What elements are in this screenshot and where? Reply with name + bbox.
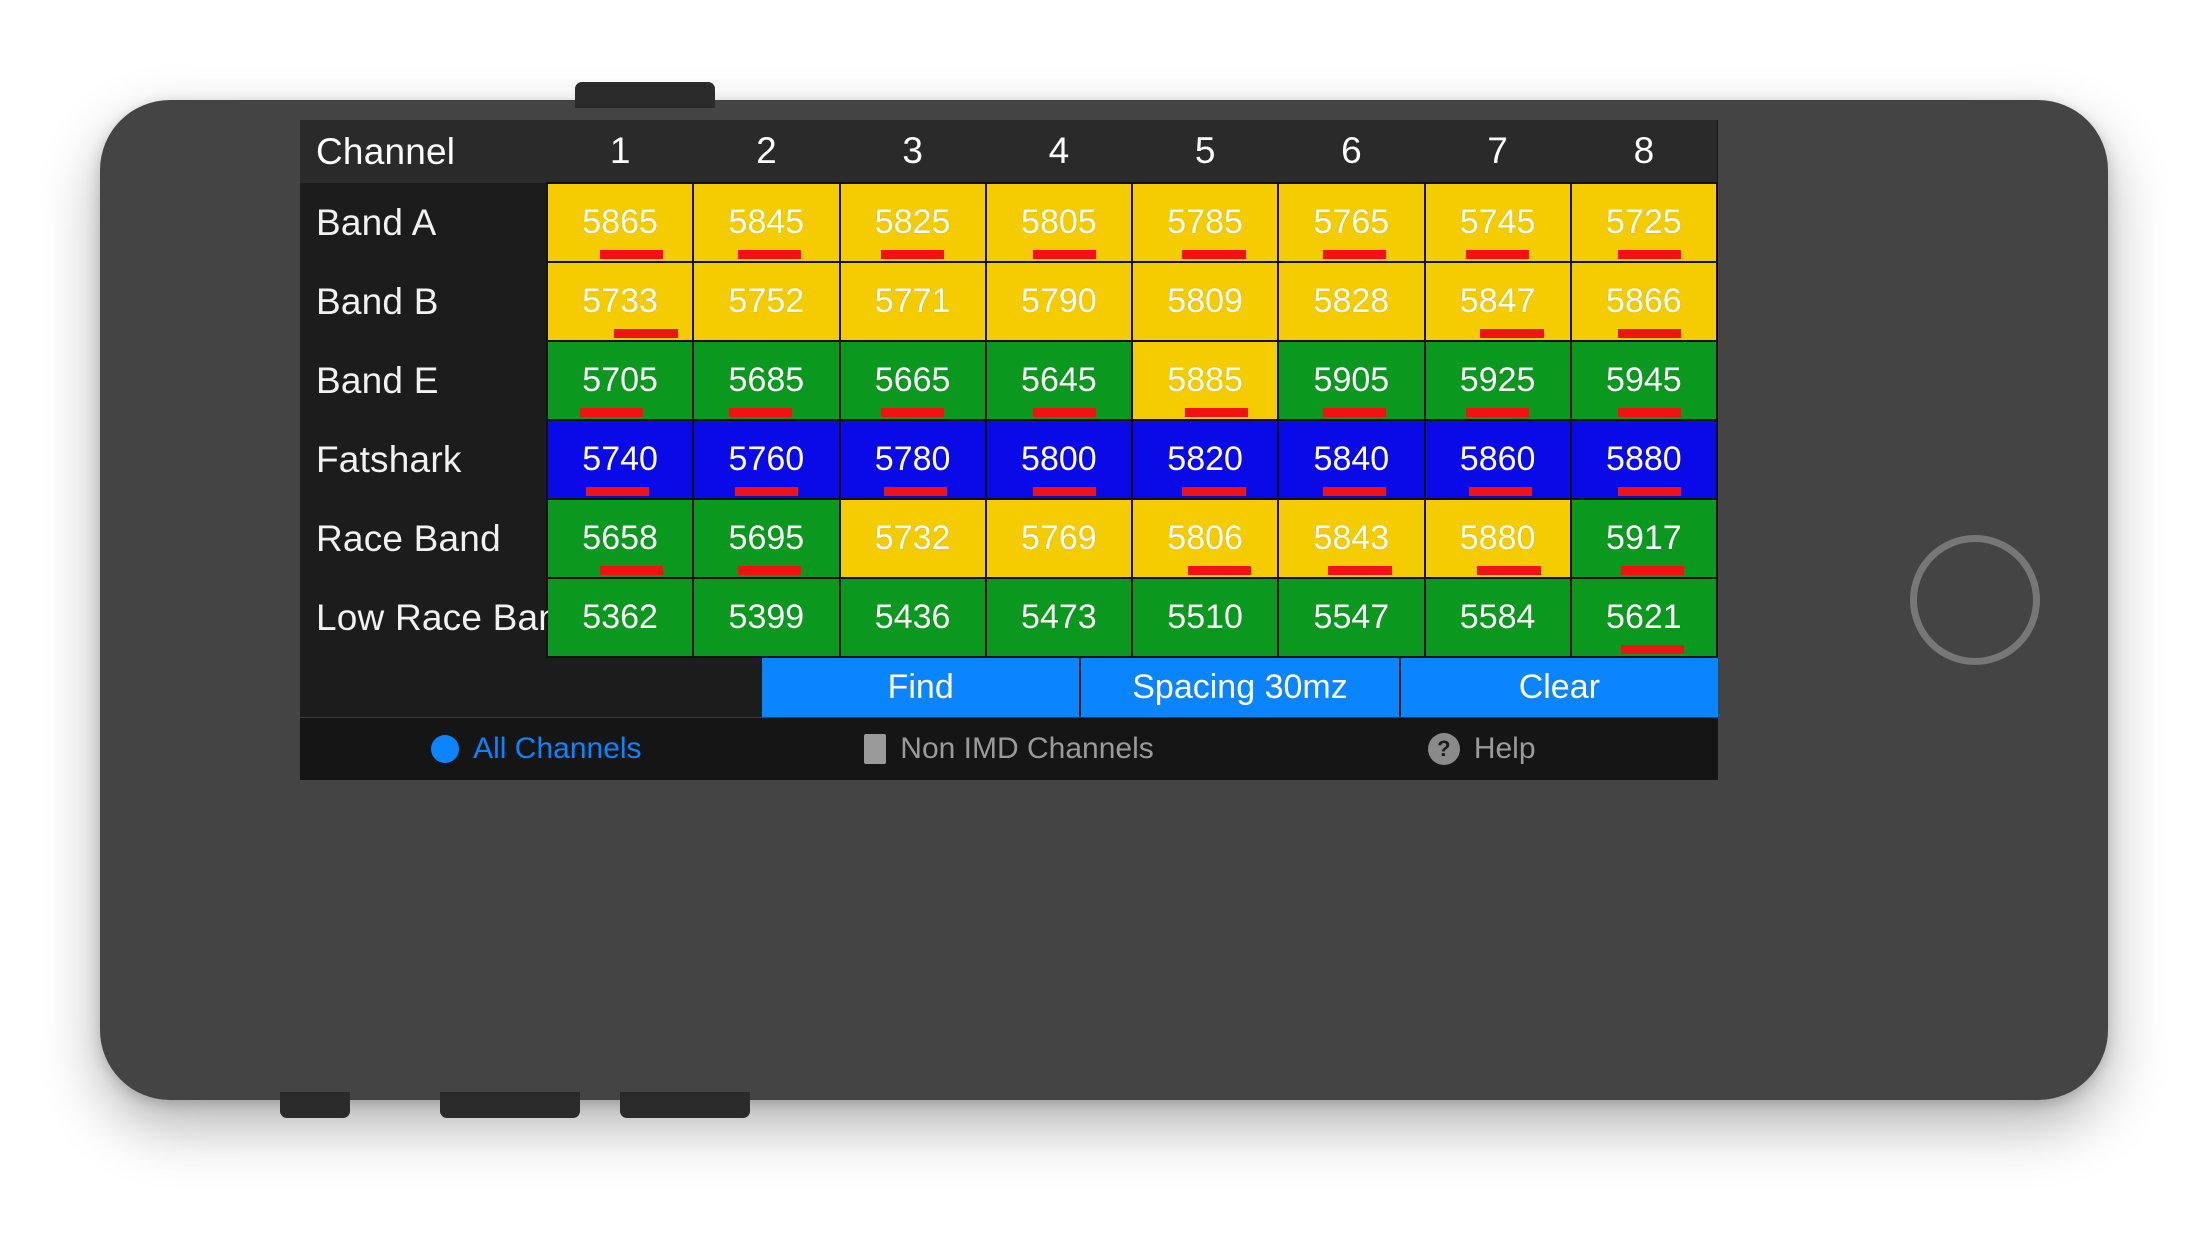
action-button-bar: Find Spacing 30mz Clear	[300, 658, 1718, 717]
imd-indicator-bar	[738, 566, 801, 575]
channel-header-5: 5	[1132, 120, 1278, 183]
frequency-cell[interactable]: 5925	[1425, 341, 1571, 420]
frequency-cell[interactable]: 5917	[1571, 499, 1717, 578]
frequency-value: 5547	[1279, 579, 1423, 656]
tab-all-channels[interactable]: All Channels	[300, 732, 773, 766]
frequency-cell[interactable]: 5745	[1425, 183, 1571, 262]
frequency-cell[interactable]: 5945	[1571, 341, 1717, 420]
imd-indicator-bar	[600, 566, 663, 575]
frequency-cell[interactable]: 5399	[693, 578, 839, 657]
frequency-cell[interactable]: 5752	[693, 262, 839, 341]
band-row: Fatshark57405760578058005820584058605880	[300, 420, 1717, 499]
frequency-cell[interactable]: 5880	[1571, 420, 1717, 499]
imd-indicator-bar	[729, 408, 792, 417]
frequency-value: 5399	[694, 579, 838, 656]
bottom-tab-bar: All Channels Non IMD Channels ? Help	[300, 717, 1718, 780]
frequency-cell[interactable]: 5665	[840, 341, 986, 420]
imd-indicator-bar	[1469, 487, 1532, 496]
frequency-cell[interactable]: 5510	[1132, 578, 1278, 657]
frequency-cell[interactable]: 5828	[1278, 262, 1424, 341]
tab-help[interactable]: ? Help	[1245, 732, 1718, 766]
imd-indicator-bar	[1328, 566, 1391, 575]
frequency-cell[interactable]: 5760	[693, 420, 839, 499]
imd-indicator-bar	[1033, 487, 1096, 496]
imd-indicator-bar	[881, 408, 944, 417]
frequency-cell[interactable]: 5436	[840, 578, 986, 657]
imd-indicator-bar	[1466, 250, 1529, 259]
frequency-value: 5584	[1426, 579, 1570, 656]
frequency-cell[interactable]: 5765	[1278, 183, 1424, 262]
imd-indicator-bar	[614, 329, 677, 338]
frequency-cell[interactable]: 5695	[693, 499, 839, 578]
channel-header-2: 2	[693, 120, 839, 183]
channel-header-6: 6	[1278, 120, 1424, 183]
frequency-cell[interactable]: 5843	[1278, 499, 1424, 578]
frequency-cell[interactable]: 5866	[1571, 262, 1717, 341]
channel-header-8: 8	[1571, 120, 1717, 183]
frequency-value: 5771	[841, 263, 985, 340]
tab-non-imd-channels[interactable]: Non IMD Channels	[773, 732, 1246, 766]
imd-indicator-bar	[1480, 329, 1543, 338]
band-row: Band E57055685566556455885590559255945	[300, 341, 1717, 420]
frequency-cell[interactable]: 5800	[986, 420, 1132, 499]
spacing-button[interactable]: Spacing 30mz	[1081, 658, 1400, 717]
band-row: Band B57335752577157905809582858475866	[300, 262, 1717, 341]
frequency-value: 5790	[987, 263, 1131, 340]
frequency-value: 5473	[987, 579, 1131, 656]
frequency-cell[interactable]: 5645	[986, 341, 1132, 420]
imd-indicator-bar	[1618, 250, 1681, 259]
imd-indicator-bar	[1618, 329, 1681, 338]
square-icon	[864, 734, 886, 764]
band-label: Band B	[300, 262, 547, 341]
frequency-cell[interactable]: 5809	[1132, 262, 1278, 341]
imd-indicator-bar	[580, 408, 643, 417]
frequency-value: 5362	[548, 579, 692, 656]
imd-indicator-bar	[1477, 566, 1540, 575]
frequency-cell[interactable]: 5705	[547, 341, 693, 420]
imd-indicator-bar	[1621, 566, 1684, 575]
frequency-cell[interactable]: 5769	[986, 499, 1132, 578]
imd-indicator-bar	[1323, 408, 1386, 417]
mute-switch-button[interactable]	[620, 1092, 750, 1118]
frequency-cell[interactable]: 5780	[840, 420, 986, 499]
imd-indicator-bar	[1618, 408, 1681, 417]
action-bar-spacer	[300, 658, 762, 717]
frequency-cell[interactable]: 5362	[547, 578, 693, 657]
imd-indicator-bar	[1185, 408, 1248, 417]
frequency-value: 5732	[841, 500, 985, 577]
tab-help-label: Help	[1474, 732, 1536, 766]
tab-non-imd-label: Non IMD Channels	[900, 732, 1153, 766]
imd-indicator-bar	[1033, 408, 1096, 417]
home-button[interactable]	[1910, 535, 2040, 665]
frequency-value: 5809	[1133, 263, 1277, 340]
frequency-cell[interactable]: 5725	[1571, 183, 1717, 262]
channel-header-1: 1	[547, 120, 693, 183]
frequency-cell[interactable]: 5732	[840, 499, 986, 578]
frequency-cell[interactable]: 5740	[547, 420, 693, 499]
find-button[interactable]: Find	[762, 658, 1081, 717]
frequency-cell[interactable]: 5771	[840, 262, 986, 341]
frequency-cell[interactable]: 5880	[1425, 499, 1571, 578]
band-row: Band A58655845582558055785576557455725	[300, 183, 1717, 262]
imd-indicator-bar	[1182, 250, 1245, 259]
band-label: Band E	[300, 341, 547, 420]
channel-header-3: 3	[840, 120, 986, 183]
frequency-value: 5752	[694, 263, 838, 340]
imd-indicator-bar	[738, 250, 801, 259]
frequency-cell[interactable]: 5685	[693, 341, 839, 420]
frequency-cell[interactable]: 5865	[547, 183, 693, 262]
band-label: Fatshark	[300, 420, 547, 499]
frequency-cell[interactable]: 5584	[1425, 578, 1571, 657]
imd-indicator-bar	[881, 250, 944, 259]
frequency-value: 5510	[1133, 579, 1277, 656]
clear-button[interactable]: Clear	[1401, 658, 1718, 717]
frequency-value: 5436	[841, 579, 985, 656]
frequency-cell[interactable]: 5621	[1571, 578, 1717, 657]
frequency-cell[interactable]: 5785	[1132, 183, 1278, 262]
frequency-cell[interactable]: 5840	[1278, 420, 1424, 499]
frequency-value: 5828	[1279, 263, 1423, 340]
tab-all-channels-label: All Channels	[473, 732, 641, 766]
device-frame: Channel12345678Band A5865584558255805578…	[100, 100, 2108, 1100]
band-label: Low Race Band	[300, 578, 547, 657]
power-button[interactable]	[575, 82, 715, 108]
filled-circle-icon	[431, 735, 459, 763]
band-label: Band A	[300, 183, 547, 262]
volume-down-button[interactable]	[280, 1092, 350, 1118]
imd-indicator-bar	[735, 487, 798, 496]
imd-indicator-bar	[586, 487, 649, 496]
frequency-cell[interactable]: 5847	[1425, 262, 1571, 341]
table-header-row: Channel12345678	[300, 120, 1717, 183]
channel-frequency-table: Channel12345678Band A5865584558255805578…	[300, 120, 1718, 658]
frequency-cell[interactable]: 5845	[693, 183, 839, 262]
band-row: Low Race Band536253995436547355105547558…	[300, 578, 1717, 657]
imd-indicator-bar	[1033, 250, 1096, 259]
imd-indicator-bar	[1466, 408, 1529, 417]
channel-header-7: 7	[1425, 120, 1571, 183]
frequency-cell[interactable]: 5806	[1132, 499, 1278, 578]
frequency-cell[interactable]: 5658	[547, 499, 693, 578]
band-label: Race Band	[300, 499, 547, 578]
channel-corner-label: Channel	[300, 120, 547, 183]
channel-header-4: 4	[986, 120, 1132, 183]
imd-indicator-bar	[1618, 487, 1681, 496]
imd-indicator-bar	[600, 250, 663, 259]
frequency-value: 5769	[987, 500, 1131, 577]
frequency-cell[interactable]: 5860	[1425, 420, 1571, 499]
frequency-cell[interactable]: 5885	[1132, 341, 1278, 420]
imd-indicator-bar	[884, 487, 947, 496]
band-row: Race Band5658569557325769580658435880591…	[300, 499, 1717, 578]
frequency-cell[interactable]: 5805	[986, 183, 1132, 262]
imd-indicator-bar	[1621, 645, 1684, 654]
volume-up-button[interactable]	[440, 1092, 580, 1118]
imd-indicator-bar	[1323, 487, 1386, 496]
imd-indicator-bar	[1323, 250, 1386, 259]
question-mark-icon: ?	[1428, 733, 1460, 765]
app-screen: Channel12345678Band A5865584558255805578…	[300, 120, 1718, 780]
imd-indicator-bar	[1182, 487, 1245, 496]
frequency-cell[interactable]: 5790	[986, 262, 1132, 341]
frequency-cell[interactable]: 5547	[1278, 578, 1424, 657]
frequency-cell[interactable]: 5733	[547, 262, 693, 341]
frequency-cell[interactable]: 5473	[986, 578, 1132, 657]
frequency-cell[interactable]: 5825	[840, 183, 986, 262]
frequency-cell[interactable]: 5820	[1132, 420, 1278, 499]
imd-indicator-bar	[1188, 566, 1251, 575]
frequency-cell[interactable]: 5905	[1278, 341, 1424, 420]
